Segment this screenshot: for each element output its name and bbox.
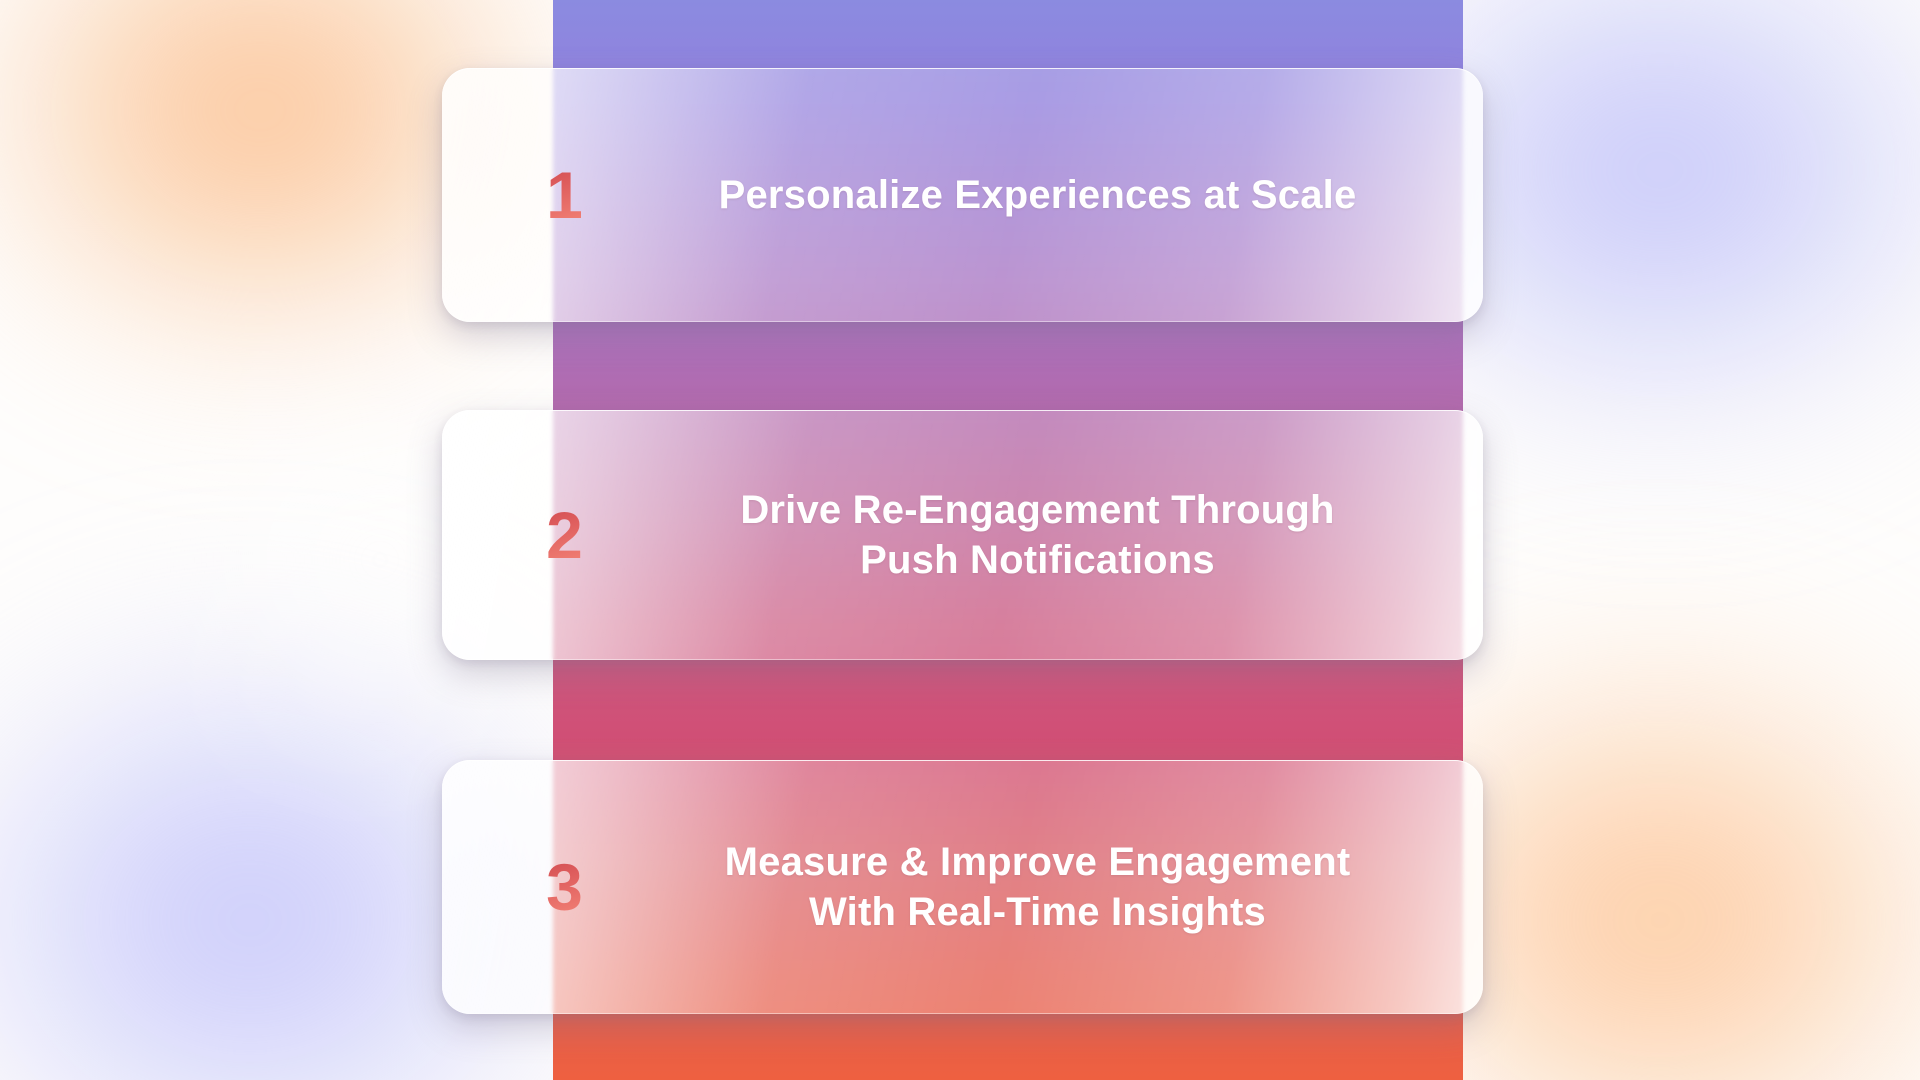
step-title-1: Personalize Experiences at Scale (632, 170, 1443, 220)
step-card-3[interactable]: 3 Measure & Improve Engagement With Real… (442, 760, 1483, 1014)
step-number-2: 2 (504, 502, 624, 568)
step-card-1[interactable]: 1 Personalize Experiences at Scale (442, 68, 1483, 322)
step-title-3: Measure & Improve Engagement With Real-T… (632, 837, 1443, 937)
step-number-3: 3 (504, 854, 624, 920)
step-number-1: 1 (504, 162, 624, 228)
step-card-list: 1 Personalize Experiences at Scale 2 Dri… (0, 0, 1920, 1080)
step-card-2[interactable]: 2 Drive Re-Engagement Through Push Notif… (442, 410, 1483, 660)
infographic-canvas: 1 Personalize Experiences at Scale 2 Dri… (0, 0, 1920, 1080)
step-title-2: Drive Re-Engagement Through Push Notific… (632, 485, 1443, 585)
